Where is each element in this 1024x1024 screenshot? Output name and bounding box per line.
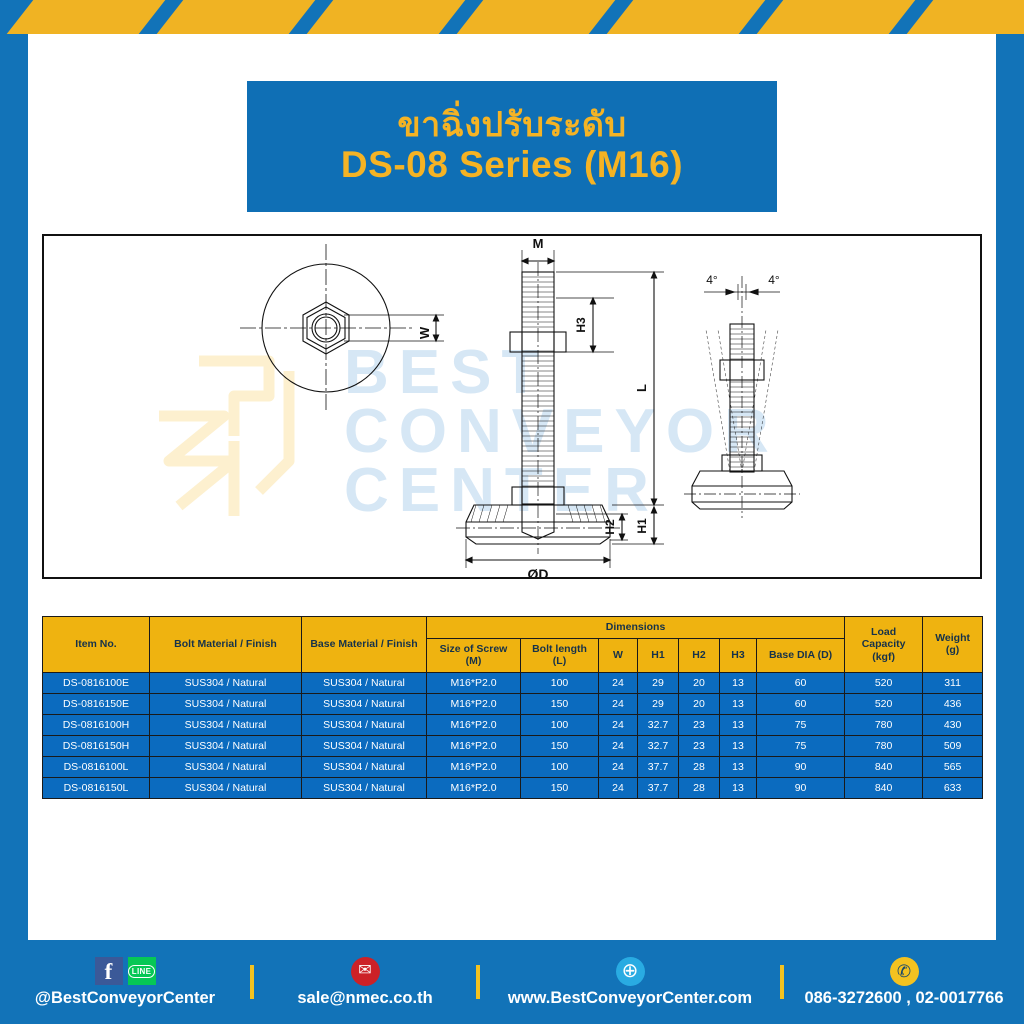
cell-bolt-length: 150 [521, 693, 599, 714]
cell-h3: 13 [720, 735, 757, 756]
header-bolt-length-line2: (L) [523, 655, 596, 668]
label-angle-right: 4° [768, 273, 780, 287]
cell-size-of-screw: M16*P2.0 [427, 756, 521, 777]
header-bolt-material: Bolt Material / Finish [150, 617, 302, 673]
cell-bolt-length: 100 [521, 756, 599, 777]
email-icon[interactable]: ✉ [351, 957, 380, 986]
cell-bolt-length: 150 [521, 777, 599, 798]
label-l: L [634, 384, 649, 392]
cell-base-material: SUS304 / Natural [302, 735, 427, 756]
content-sheet: ขาฉิ่งปรับระดับ DS-08 Series (M16) BEST … [28, 34, 996, 940]
footer-website[interactable]: ⊕ www.BestConveyorCenter.com [480, 940, 780, 1024]
header-h2: H2 [679, 638, 720, 672]
header-w: W [599, 638, 638, 672]
header-load-capacity-line2: Capacity [847, 638, 920, 651]
cell-bolt-material: SUS304 / Natural [150, 777, 302, 798]
header-load-capacity: Load Capacity (kgf) [845, 617, 923, 673]
cell-h1: 37.7 [638, 777, 679, 798]
cell-h3: 13 [720, 756, 757, 777]
table-row: DS-0816100E SUS304 / Natural SUS304 / Na… [43, 672, 983, 693]
cell-item-no: DS-0816100L [43, 756, 150, 777]
table-row: DS-0816100H SUS304 / Natural SUS304 / Na… [43, 714, 983, 735]
cell-base-material: SUS304 / Natural [302, 714, 427, 735]
footer-email[interactable]: ✉ sale@nmec.co.th [254, 940, 476, 1024]
cell-size-of-screw: M16*P2.0 [427, 714, 521, 735]
header-base-material: Base Material / Finish [302, 617, 427, 673]
cell-h1: 32.7 [638, 735, 679, 756]
cell-h2: 28 [679, 777, 720, 798]
label-base-diameter: ØD [528, 566, 549, 579]
specification-table: Item No. Bolt Material / Finish Base Mat… [42, 616, 983, 799]
title-thai: ขาฉิ่งปรับระดับ [397, 108, 626, 144]
cell-size-of-screw: M16*P2.0 [427, 693, 521, 714]
cell-bolt-material: SUS304 / Natural [150, 672, 302, 693]
header-weight-line2: (g) [925, 644, 980, 657]
cell-h3: 13 [720, 672, 757, 693]
cell-h1: 37.7 [638, 756, 679, 777]
cell-base-dia: 60 [757, 672, 845, 693]
cell-load-capacity: 780 [845, 714, 923, 735]
header-item-no: Item No. [43, 617, 150, 673]
cell-load-capacity: 780 [845, 735, 923, 756]
cell-base-material: SUS304 / Natural [302, 756, 427, 777]
header-load-capacity-line3: (kgf) [847, 651, 920, 664]
label-h2: H2 [603, 519, 617, 535]
cell-bolt-material: SUS304 / Natural [150, 714, 302, 735]
cell-w: 24 [599, 693, 638, 714]
cell-h2: 23 [679, 714, 720, 735]
header-bolt-length: Bolt length (L) [521, 638, 599, 672]
cell-h3: 13 [720, 693, 757, 714]
footer-phone-label: 086-3272600 , 02-0017766 [804, 989, 1003, 1008]
cell-size-of-screw: M16*P2.0 [427, 672, 521, 693]
cell-w: 24 [599, 672, 638, 693]
label-angle-left: 4° [706, 273, 718, 287]
top-decorative-band [0, 0, 1024, 34]
cell-load-capacity: 520 [845, 693, 923, 714]
cell-w: 24 [599, 735, 638, 756]
cell-bolt-length: 150 [521, 735, 599, 756]
label-h1: H1 [635, 518, 649, 534]
title-english: DS-08 Series (M16) [341, 146, 683, 185]
phone-icon[interactable]: ✆ [890, 957, 919, 986]
table-row: DS-0816150L SUS304 / Natural SUS304 / Na… [43, 777, 983, 798]
line-icon[interactable]: LINE [128, 957, 156, 985]
cell-h1: 29 [638, 693, 679, 714]
label-h3: H3 [574, 317, 588, 333]
cell-bolt-length: 100 [521, 714, 599, 735]
footer-social[interactable]: f LINE @BestConveyorCenter [0, 940, 250, 1024]
cell-bolt-material: SUS304 / Natural [150, 735, 302, 756]
cell-load-capacity: 520 [845, 672, 923, 693]
cell-size-of-screw: M16*P2.0 [427, 735, 521, 756]
cell-base-dia: 90 [757, 777, 845, 798]
cell-bolt-material: SUS304 / Natural [150, 756, 302, 777]
cell-bolt-material: SUS304 / Natural [150, 693, 302, 714]
cell-w: 24 [599, 756, 638, 777]
cell-h3: 13 [720, 714, 757, 735]
table-body: DS-0816100E SUS304 / Natural SUS304 / Na… [43, 672, 983, 798]
cell-w: 24 [599, 714, 638, 735]
datasheet-page: ขาฉิ่งปรับระดับ DS-08 Series (M16) BEST … [0, 0, 1024, 1024]
cell-item-no: DS-0816100E [43, 672, 150, 693]
facebook-icon[interactable]: f [95, 957, 123, 985]
cell-base-dia: 75 [757, 735, 845, 756]
header-weight-line1: Weight [925, 632, 980, 645]
header-size-of-screw-line1: Size of Screw [429, 643, 518, 656]
cell-weight: 430 [923, 714, 983, 735]
product-engineering-drawing: W M H3 L H1 H2 ØD 4° 4° [44, 236, 982, 579]
cell-size-of-screw: M16*P2.0 [427, 777, 521, 798]
cell-base-material: SUS304 / Natural [302, 672, 427, 693]
footer-website-label: www.BestConveyorCenter.com [508, 989, 752, 1008]
cell-weight: 565 [923, 756, 983, 777]
cell-h2: 20 [679, 693, 720, 714]
header-load-capacity-line1: Load [847, 626, 920, 639]
table-row: DS-0816150E SUS304 / Natural SUS304 / Na… [43, 693, 983, 714]
cell-weight: 633 [923, 777, 983, 798]
footer-social-label: @BestConveyorCenter [35, 989, 215, 1008]
label-w: W [417, 326, 432, 339]
cell-load-capacity: 840 [845, 756, 923, 777]
table-header-row-top: Item No. Bolt Material / Finish Base Mat… [43, 617, 983, 639]
cell-h3: 13 [720, 777, 757, 798]
cell-h1: 32.7 [638, 714, 679, 735]
cell-weight: 509 [923, 735, 983, 756]
table-row: DS-0816100L SUS304 / Natural SUS304 / Na… [43, 756, 983, 777]
cell-h1: 29 [638, 672, 679, 693]
cell-weight: 436 [923, 693, 983, 714]
cell-h2: 20 [679, 672, 720, 693]
footer-email-label: sale@nmec.co.th [297, 989, 432, 1008]
cell-base-dia: 90 [757, 756, 845, 777]
header-bolt-length-line1: Bolt length [523, 643, 596, 656]
cell-base-dia: 60 [757, 693, 845, 714]
header-base-dia: Base DIA (D) [757, 638, 845, 672]
header-h3: H3 [720, 638, 757, 672]
table-row: DS-0816150H SUS304 / Natural SUS304 / Na… [43, 735, 983, 756]
cell-w: 24 [599, 777, 638, 798]
header-size-of-screw: Size of Screw (M) [427, 638, 521, 672]
header-dimensions-group: Dimensions [427, 617, 845, 639]
cell-bolt-length: 100 [521, 672, 599, 693]
header-weight: Weight (g) [923, 617, 983, 673]
cell-base-dia: 75 [757, 714, 845, 735]
line-icon-label: LINE [128, 965, 155, 978]
header-h1: H1 [638, 638, 679, 672]
cell-item-no: DS-0816150E [43, 693, 150, 714]
header-size-of-screw-line2: (M) [429, 655, 518, 668]
technical-drawing-frame: BEST CONVEYOR CENTER [42, 234, 982, 579]
cell-item-no: DS-0816150H [43, 735, 150, 756]
label-m: M [533, 236, 544, 251]
cell-h2: 23 [679, 735, 720, 756]
cell-base-material: SUS304 / Natural [302, 693, 427, 714]
cell-weight: 311 [923, 672, 983, 693]
footer-phone[interactable]: ✆ 086-3272600 , 02-0017766 [784, 940, 1024, 1024]
cell-item-no: DS-0816100H [43, 714, 150, 735]
cell-h2: 28 [679, 756, 720, 777]
title-banner: ขาฉิ่งปรับระดับ DS-08 Series (M16) [247, 81, 777, 212]
footer-contact-bar: f LINE @BestConveyorCenter ✉ sale@nmec.c… [0, 940, 1024, 1024]
cell-load-capacity: 840 [845, 777, 923, 798]
globe-icon[interactable]: ⊕ [616, 957, 645, 986]
cell-base-material: SUS304 / Natural [302, 777, 427, 798]
cell-item-no: DS-0816150L [43, 777, 150, 798]
